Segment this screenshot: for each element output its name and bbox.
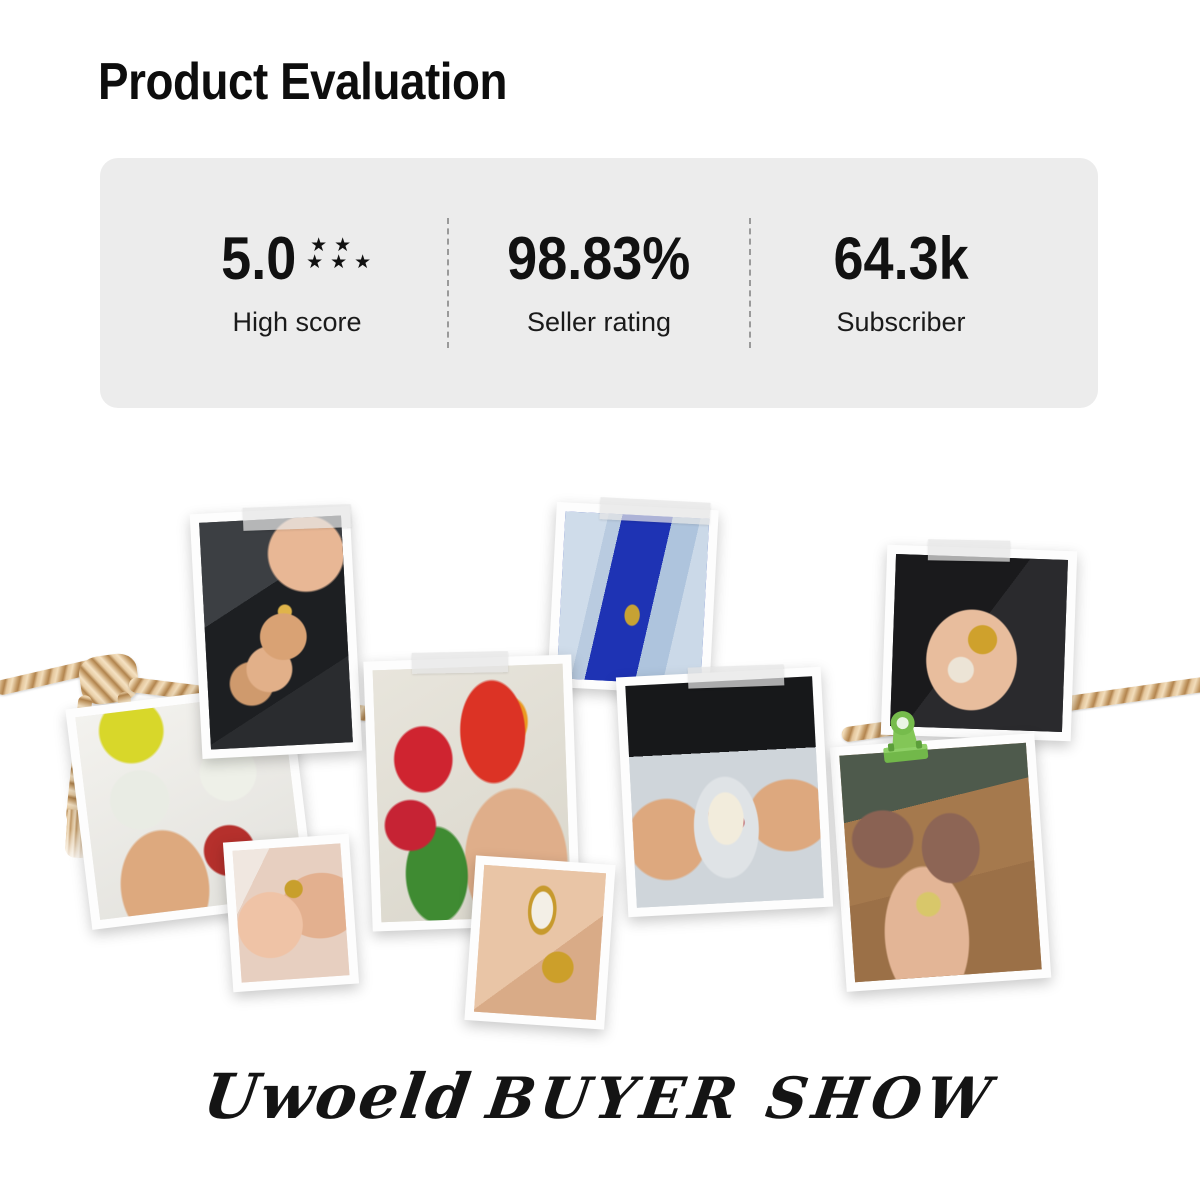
stat-seller-rating-label: Seller rating (527, 307, 671, 338)
photo-chocolate-drinks[interactable] (830, 733, 1052, 992)
photo-phone-mirror-rings[interactable] (190, 506, 363, 759)
tape-strip-icon (928, 539, 1010, 561)
star-icon: ★ (307, 237, 331, 254)
stat-high-score-label: High score (232, 307, 361, 338)
photo-gold-cross-necklace[interactable] (547, 502, 718, 695)
tape-strip-icon (243, 504, 352, 531)
photo-image (557, 511, 710, 685)
stat-high-score-value: 5.0 (221, 229, 296, 289)
star-icon: ★ (331, 237, 355, 254)
photo-pearl-ring-hand[interactable] (464, 855, 615, 1029)
star-rating-icon: ★ ★ ★ ★ ★ (303, 237, 377, 271)
star-icon: ★ (327, 254, 351, 271)
stat-subscriber: 64.3k Subscriber (751, 229, 1051, 338)
page-title: Product Evaluation (98, 52, 507, 112)
stat-high-score: 5.0 ★ ★ ★ ★ ★ High score (147, 229, 447, 338)
photo-image (474, 865, 606, 1020)
photo-image (839, 743, 1041, 982)
brand-signature: UwoeldBUYER SHOW (0, 1060, 1200, 1133)
stat-seller-rating-value-row: 98.83% (497, 229, 701, 291)
star-icon: ★ (351, 254, 375, 271)
photo-image (199, 515, 353, 749)
star-icon: ★ (303, 254, 327, 271)
photo-dessert-berries[interactable] (616, 667, 833, 917)
buyer-show-photo-collage (0, 440, 1200, 1080)
stat-subscriber-value-row: 64.3k (826, 229, 976, 291)
stat-subscriber-value: 64.3k (833, 229, 968, 289)
photo-image (233, 843, 350, 982)
tape-strip-icon (412, 651, 508, 674)
stat-seller-rating-value: 98.83% (507, 229, 690, 289)
bulldog-clip-icon (875, 703, 933, 768)
photo-earring-close-up[interactable] (223, 834, 359, 992)
photo-image (625, 676, 823, 907)
stat-seller-rating: 98.83% Seller rating (449, 229, 749, 338)
product-evaluation-stats-card: 5.0 ★ ★ ★ ★ ★ High score 98.83% Seller r… (100, 158, 1098, 408)
brand-word-one: Uwoeld (199, 1060, 476, 1133)
tape-strip-icon (688, 664, 785, 688)
stat-high-score-value-row: 5.0 ★ ★ ★ ★ ★ (217, 229, 376, 291)
stat-subscriber-label: Subscriber (836, 307, 965, 338)
brand-word-two: BUYER SHOW (483, 1065, 1000, 1132)
